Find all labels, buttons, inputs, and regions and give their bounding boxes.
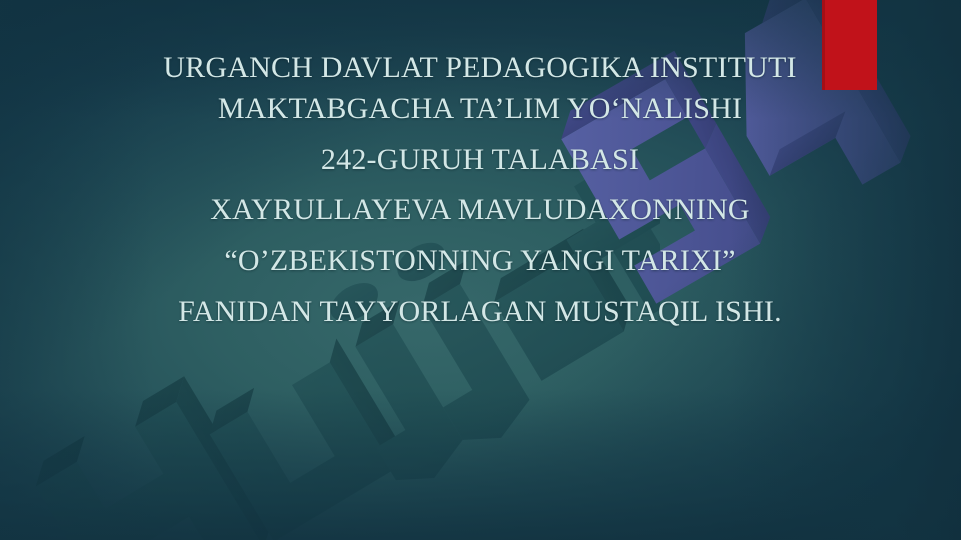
presentation-slide: URGANCH DAVLAT PEDAGOGIKA INSTITUTI MAKT…	[0, 0, 961, 540]
title-line-student-name: XAYRULLAYEVA MAVLUDAXONNING	[80, 190, 880, 231]
title-line-department: MAKTABGACHA TA’LIM YO‘NALISHI	[80, 89, 880, 130]
slide-title-text: URGANCH DAVLAT PEDAGOGIKA INSTITUTI MAKT…	[80, 48, 880, 333]
title-line-group: 242-GURUH TALABASI	[80, 140, 880, 181]
title-line-work-type: FANIDAN TAYYORLAGAN MUSTAQIL ISHI.	[80, 292, 880, 333]
title-line-institute: URGANCH DAVLAT PEDAGOGIKA INSTITUTI	[80, 48, 880, 89]
title-line-subject: “O’ZBEKISTONNING YANGI TARIXI”	[80, 241, 880, 282]
